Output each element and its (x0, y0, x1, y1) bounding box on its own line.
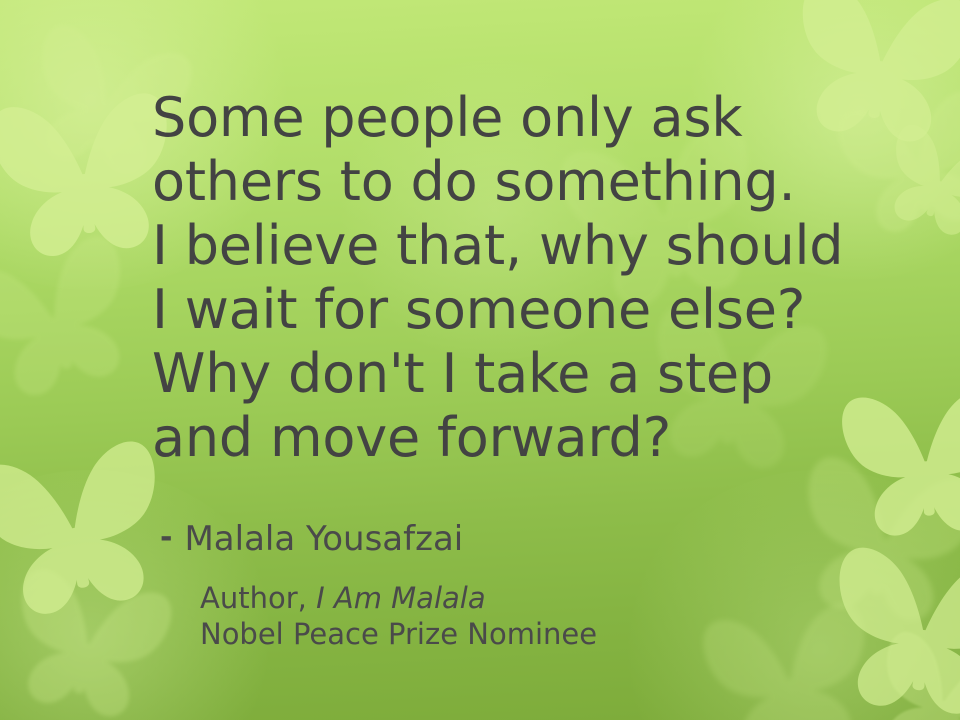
credit-line-author: Author, I Am Malala (200, 580, 900, 616)
quote-line-2: others to do something. (152, 150, 922, 214)
quote-line-3: I believe that, why should (152, 214, 922, 278)
quote-slide: Some people only ask others to do someth… (0, 0, 960, 720)
attribution-line: -Malala Yousafzai (160, 516, 920, 561)
attribution-block: -Malala Yousafzai (160, 516, 920, 561)
credit-line-nobel: Nobel Peace Prize Nominee (200, 616, 900, 652)
credit-book-title: I Am Malala (316, 581, 486, 615)
quote-text-block: Some people only ask others to do someth… (152, 86, 922, 470)
attribution-name: Malala Yousafzai (184, 519, 463, 559)
quote-line-4: I wait for someone else? (152, 278, 922, 342)
credit-author-prefix: Author, (200, 581, 316, 615)
slide-content: Some people only ask others to do someth… (0, 0, 960, 720)
quote-line-5: Why don't I take a step (152, 342, 922, 406)
credits-block: Author, I Am Malala Nobel Peace Prize No… (200, 580, 900, 652)
attribution-dash: - (160, 520, 184, 555)
quote-line-1: Some people only ask (152, 86, 922, 150)
quote-line-6: and move forward? (152, 406, 922, 470)
